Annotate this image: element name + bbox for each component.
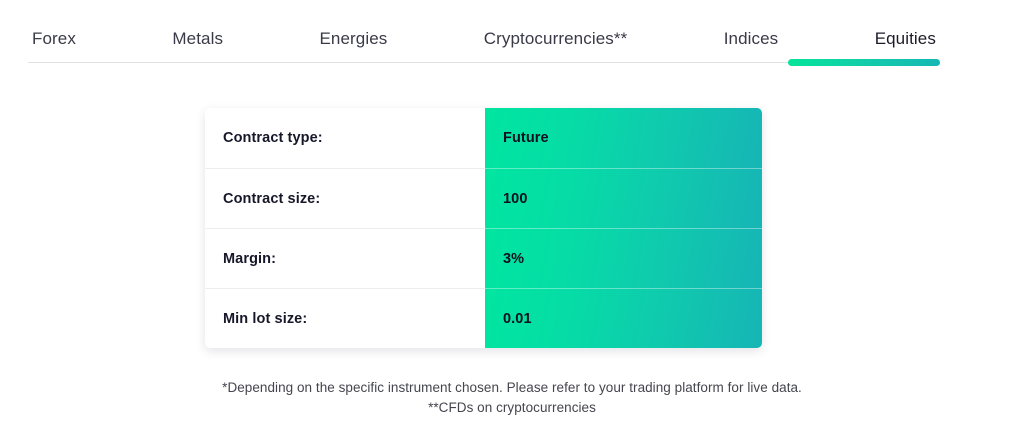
tab-indices[interactable]: Indices <box>720 30 783 47</box>
tab-energies[interactable]: Energies <box>315 30 391 47</box>
spec-value-contract-size: 100 <box>485 168 762 228</box>
tab-list: Forex Metals Energies Cryptocurrencies**… <box>28 20 940 56</box>
spec-label-contract-size: Contract size: <box>205 168 485 228</box>
tab-metals[interactable]: Metals <box>168 30 227 47</box>
spec-label-margin: Margin: <box>205 228 485 288</box>
tab-cryptocurrencies[interactable]: Cryptocurrencies** <box>480 30 632 47</box>
spec-label-min-lot-size: Min lot size: <box>205 288 485 348</box>
contract-specification-table: Contract type: Future Contract size: 100… <box>205 108 762 348</box>
active-tab-indicator <box>788 59 940 66</box>
tab-forex[interactable]: Forex <box>28 30 80 47</box>
spec-value-margin: 3% <box>485 228 762 288</box>
spec-value-contract-type: Future <box>485 108 762 168</box>
footnote-live-data: *Depending on the specific instrument ch… <box>0 378 1024 398</box>
table-row: Contract type: Future <box>205 108 762 168</box>
spec-label-contract-type: Contract type: <box>205 108 485 168</box>
instrument-category-tabs: Forex Metals Energies Cryptocurrencies**… <box>0 0 1024 68</box>
table-row: Margin: 3% <box>205 228 762 288</box>
table-row: Contract size: 100 <box>205 168 762 228</box>
table-row: Min lot size: 0.01 <box>205 288 762 348</box>
footnote-cfd-crypto: **CFDs on cryptocurrencies <box>0 398 1024 418</box>
footnotes: *Depending on the specific instrument ch… <box>0 378 1024 418</box>
tab-equities[interactable]: Equities <box>871 30 940 47</box>
spec-value-min-lot-size: 0.01 <box>485 288 762 348</box>
